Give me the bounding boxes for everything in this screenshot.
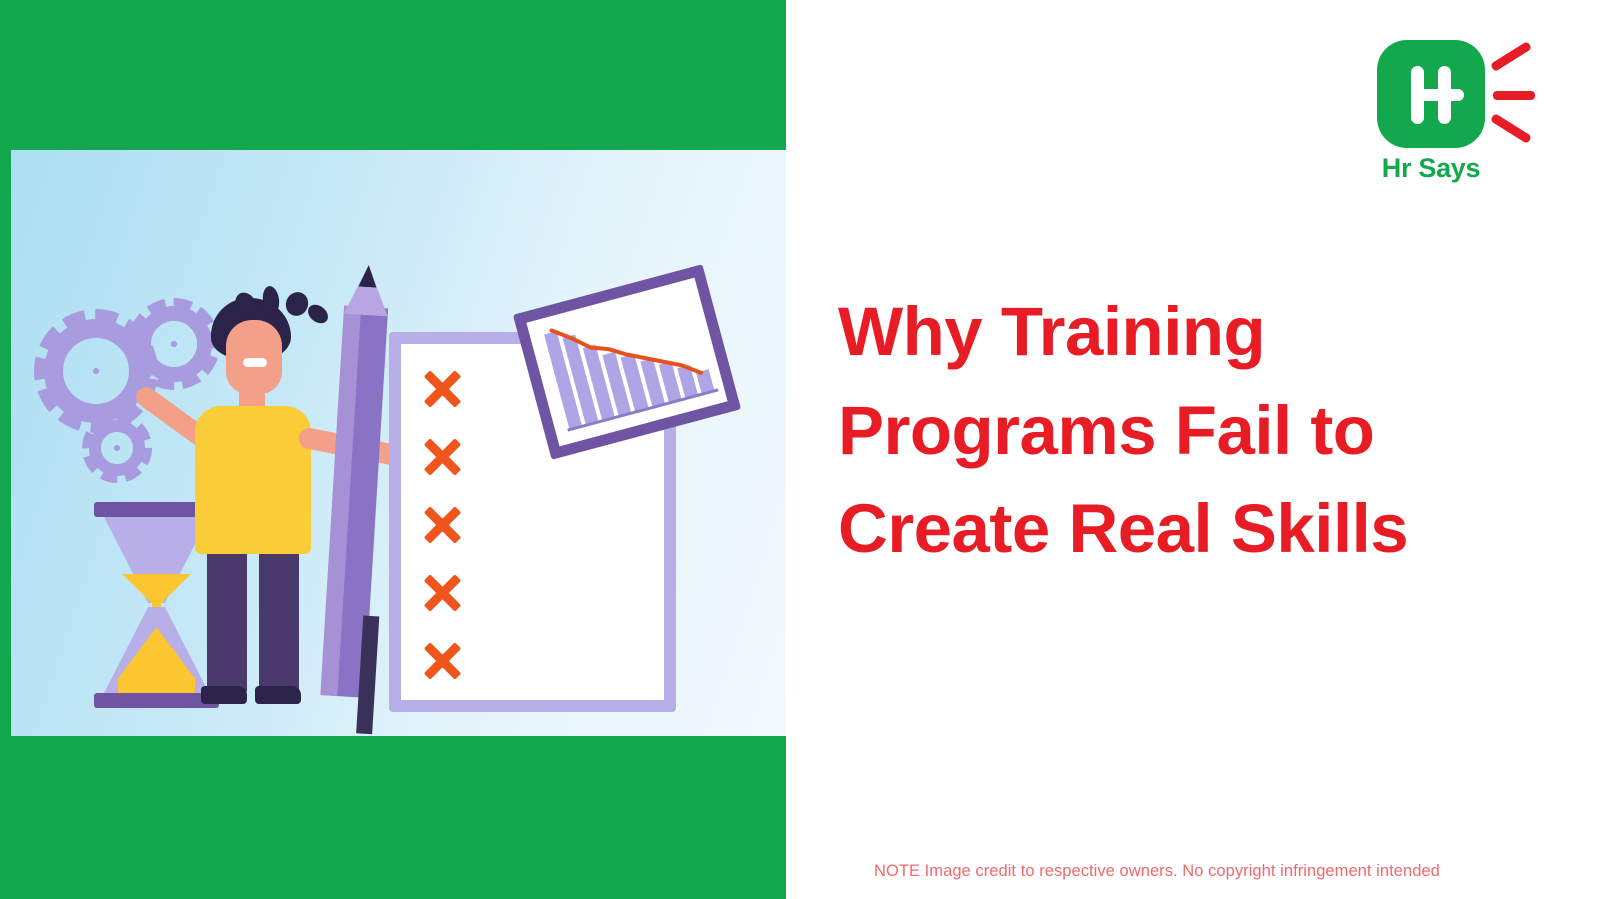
checklist-row — [423, 634, 657, 692]
logo-h-icon — [1377, 40, 1485, 148]
chart-plot-area — [526, 278, 727, 447]
checklist-row — [423, 566, 657, 624]
x-mark-icon — [423, 506, 461, 544]
page-title-line-1: Why Training — [838, 283, 1558, 382]
logo-h-crossbar — [1411, 89, 1464, 101]
person-shoe-right — [255, 686, 301, 704]
hair-spike — [261, 285, 281, 315]
hr-says-logo[interactable]: Hr Says — [1372, 40, 1572, 190]
hair-spike — [304, 301, 331, 327]
chart-trend-line — [543, 292, 714, 429]
training-failure-illustration — [11, 150, 786, 736]
gear-small-icon — [89, 420, 145, 476]
x-mark-icon — [423, 642, 461, 680]
person-mouth — [243, 358, 267, 367]
hair-spike — [282, 289, 311, 319]
logo-ray-bottom-icon — [1490, 113, 1532, 144]
page-title: Why Training Programs Fail to Create Rea… — [838, 283, 1558, 579]
person-leg-right — [259, 542, 299, 694]
person-shoe-left — [201, 686, 247, 704]
checklist-row — [423, 498, 657, 556]
x-mark-icon — [423, 370, 461, 408]
page-title-line-3: Create Real Skills — [838, 480, 1558, 579]
pencil-tip-lead — [358, 265, 377, 288]
x-mark-icon — [423, 574, 461, 612]
logo-ray-middle-icon — [1493, 91, 1535, 100]
hair-spike — [231, 289, 261, 321]
declining-chart-card — [513, 264, 741, 460]
x-mark-icon — [423, 438, 461, 476]
logo-ray-top-icon — [1490, 41, 1532, 72]
person-face — [226, 320, 282, 394]
person-leg-left — [207, 542, 247, 694]
person-shirt — [195, 406, 311, 554]
copyright-note: NOTE Image credit to respective owners. … — [874, 862, 1594, 881]
left-green-panel — [0, 0, 786, 899]
logo-wordmark: Hr Says — [1372, 153, 1490, 184]
page-title-line-2: Programs Fail to — [838, 382, 1558, 481]
